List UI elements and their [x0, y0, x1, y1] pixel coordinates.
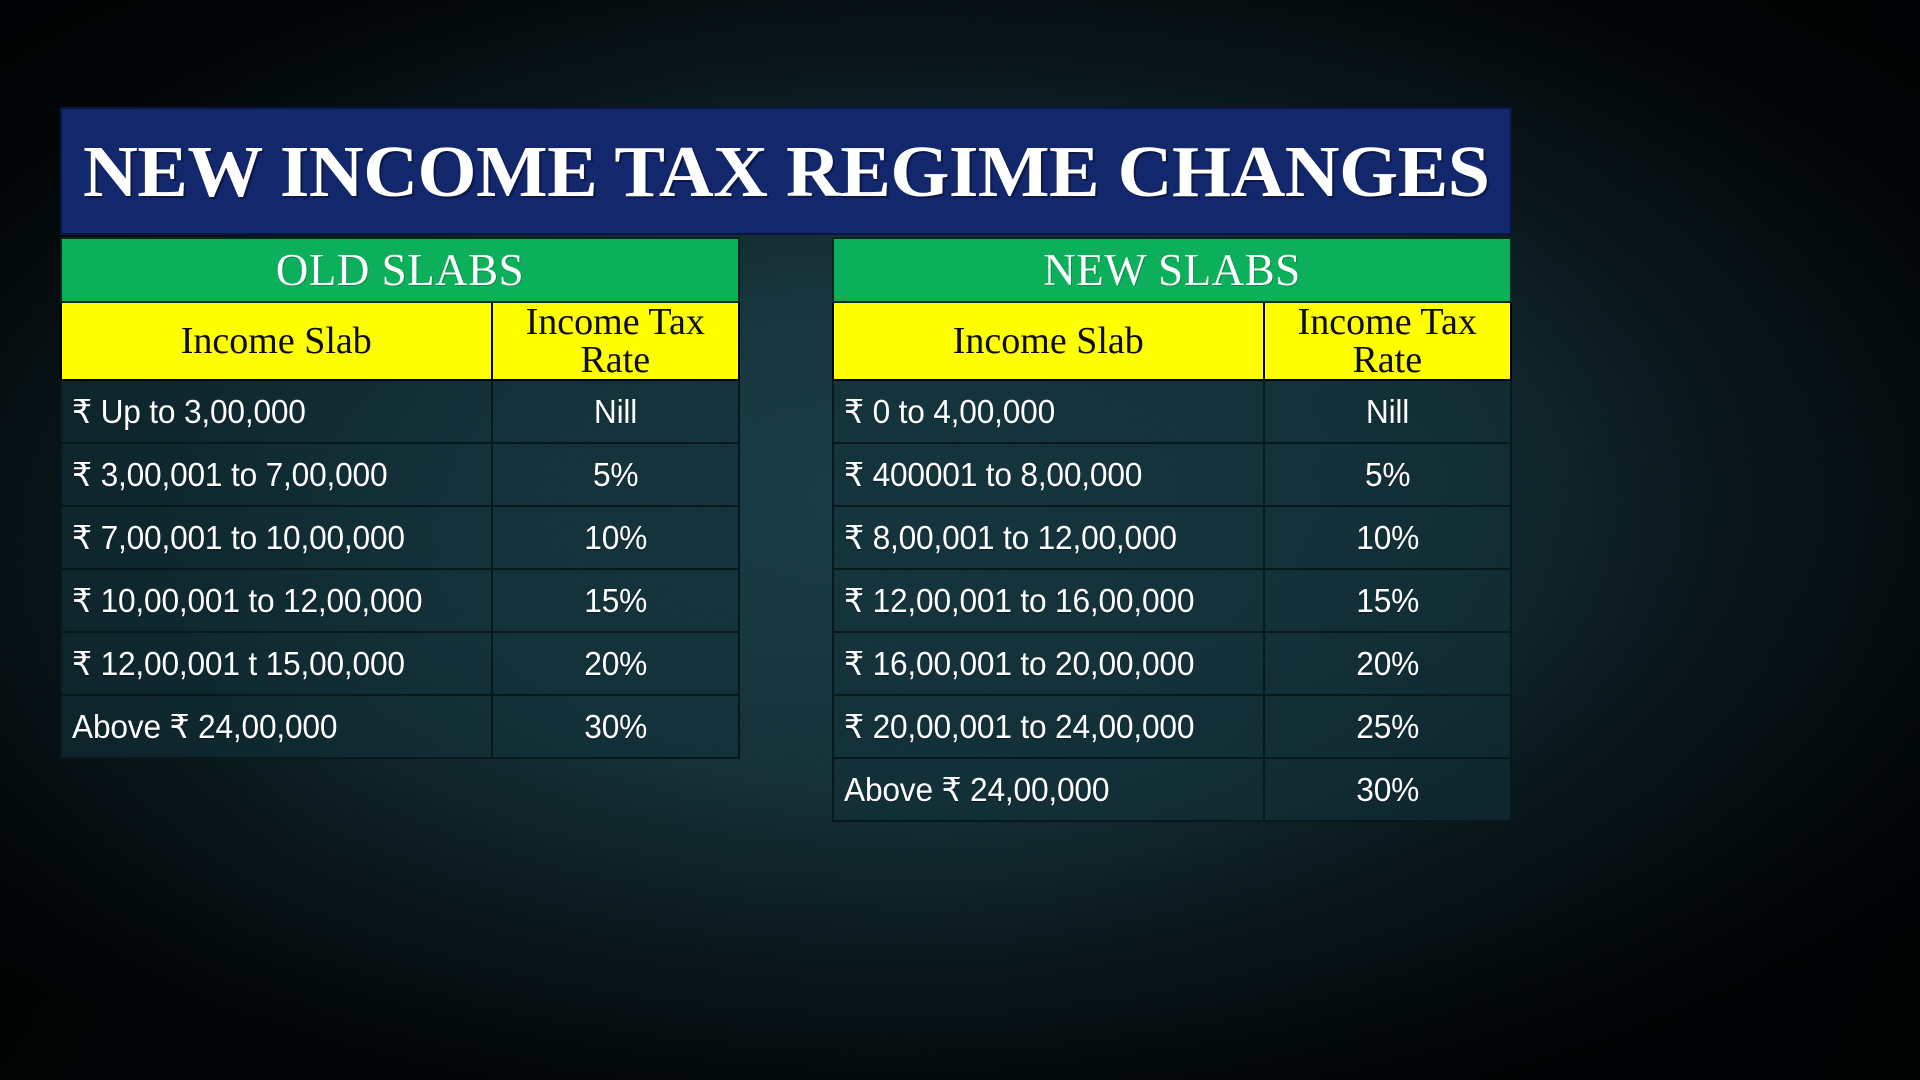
slab-value: ₹ 10,00,001 to 12,00,000 [72, 584, 422, 617]
slab-cell: ₹ 7,00,001 to 10,00,000 [61, 506, 492, 569]
rate-value: 15% [1356, 584, 1419, 617]
table-row: ₹ Up to 3,00,000 Nill [61, 380, 739, 443]
slab-cell: ₹ 12,00,001 t 15,00,000 [61, 632, 492, 695]
rate-cell: 15% [1264, 569, 1511, 632]
new-slabs-column-header-slab: Income Slab [833, 302, 1264, 380]
slab-value: ₹ 8,00,001 to 12,00,000 [844, 521, 1177, 554]
old-slabs-section-header-cell: OLD SLABS [61, 238, 739, 302]
rate-value: 30% [1356, 773, 1419, 806]
slab-value: Above ₹ 24,00,000 [844, 773, 1109, 806]
slab-value: ₹ 20,00,001 to 24,00,000 [844, 710, 1194, 743]
rate-value: 25% [1356, 710, 1419, 743]
slab-cell: ₹ 400001 to 8,00,000 [833, 443, 1264, 506]
table-row: ₹ 0 to 4,00,000 Nill [833, 380, 1511, 443]
tables-container: OLD SLABS Income Slab Income Tax Rate ₹ … [60, 237, 1512, 822]
old-slabs-header-income-tax-rate: Income Tax Rate [493, 303, 738, 379]
new-slabs-header-income-tax-rate: Income Tax Rate [1265, 303, 1510, 379]
table-row: ₹ 16,00,001 to 20,00,000 20% [833, 632, 1511, 695]
rate-cell: Nill [492, 380, 739, 443]
table-row: ₹ 8,00,001 to 12,00,000 10% [833, 506, 1511, 569]
new-slabs-section-header-row: NEW SLABS [833, 238, 1511, 302]
slab-value: ₹ 400001 to 8,00,000 [844, 458, 1142, 491]
table-row: ₹ 12,00,001 to 16,00,000 15% [833, 569, 1511, 632]
slab-cell: ₹ Up to 3,00,000 [61, 380, 492, 443]
rate-cell: 15% [492, 569, 739, 632]
slab-cell: ₹ 0 to 4,00,000 [833, 380, 1264, 443]
page-title: NEW INCOME TAX REGIME CHANGES [83, 135, 1490, 208]
rate-cell: 30% [492, 695, 739, 758]
new-slabs-section-header-cell: NEW SLABS [833, 238, 1511, 302]
rate-value: Nill [594, 395, 637, 428]
slab-cell: ₹ 10,00,001 to 12,00,000 [61, 569, 492, 632]
old-slabs-section-header-row: OLD SLABS [61, 238, 739, 302]
slab-value: ₹ Up to 3,00,000 [72, 395, 306, 428]
table-row: Above ₹ 24,00,000 30% [61, 695, 739, 758]
slab-cell: Above ₹ 24,00,000 [833, 758, 1264, 821]
slab-cell: ₹ 16,00,001 to 20,00,000 [833, 632, 1264, 695]
title-banner: NEW INCOME TAX REGIME CHANGES [60, 107, 1512, 235]
rate-cell: 25% [1264, 695, 1511, 758]
slab-value: ₹ 12,00,001 to 16,00,000 [844, 584, 1194, 617]
new-slabs-header-income-slab: Income Slab [953, 322, 1144, 360]
rate-cell: 20% [1264, 632, 1511, 695]
old-slabs-section-title: OLD SLABS [276, 248, 524, 293]
slab-value: Above ₹ 24,00,000 [72, 710, 337, 743]
rate-value: 5% [1365, 458, 1410, 491]
old-slabs-column-header-row: Income Slab Income Tax Rate [61, 302, 739, 380]
table-row: Above ₹ 24,00,000 30% [833, 758, 1511, 821]
table-row: ₹ 3,00,001 to 7,00,000 5% [61, 443, 739, 506]
old-slabs-column-header-rate: Income Tax Rate [492, 302, 739, 380]
rate-value: 30% [584, 710, 647, 743]
slab-value: ₹ 3,00,001 to 7,00,000 [72, 458, 387, 491]
new-slabs-table: NEW SLABS Income Slab Income Tax Rate ₹ … [832, 237, 1512, 822]
slab-cell: ₹ 3,00,001 to 7,00,000 [61, 443, 492, 506]
old-slabs-column-header-slab: Income Slab [61, 302, 492, 380]
tables-gap-spacer [740, 237, 832, 822]
rate-cell: 20% [492, 632, 739, 695]
slab-value: ₹ 16,00,001 to 20,00,000 [844, 647, 1194, 680]
new-slabs-column-header-rate: Income Tax Rate [1264, 302, 1511, 380]
table-row: ₹ 20,00,001 to 24,00,000 25% [833, 695, 1511, 758]
tax-slab-infographic: NEW INCOME TAX REGIME CHANGES OLD SLABS … [60, 107, 1512, 822]
new-slabs-section-title: NEW SLABS [1043, 248, 1300, 293]
slab-cell: Above ₹ 24,00,000 [61, 695, 492, 758]
slab-value: ₹ 7,00,001 to 10,00,000 [72, 521, 405, 554]
rate-value: 10% [584, 521, 647, 554]
table-row: ₹ 10,00,001 to 12,00,000 15% [61, 569, 739, 632]
rate-value: 20% [584, 647, 647, 680]
slab-cell: ₹ 20,00,001 to 24,00,000 [833, 695, 1264, 758]
new-slabs-table-block: NEW SLABS Income Slab Income Tax Rate ₹ … [832, 237, 1512, 822]
new-slabs-column-header-row: Income Slab Income Tax Rate [833, 302, 1511, 380]
slab-cell: ₹ 12,00,001 to 16,00,000 [833, 569, 1264, 632]
rate-cell: Nill [1264, 380, 1511, 443]
rate-value: 10% [1356, 521, 1419, 554]
slab-cell: ₹ 8,00,001 to 12,00,000 [833, 506, 1264, 569]
old-slabs-header-income-slab: Income Slab [181, 322, 372, 360]
rate-cell: 30% [1264, 758, 1511, 821]
table-row: ₹ 7,00,001 to 10,00,000 10% [61, 506, 739, 569]
old-slabs-table: OLD SLABS Income Slab Income Tax Rate ₹ … [60, 237, 740, 759]
rate-value: 20% [1356, 647, 1419, 680]
rate-value: 5% [593, 458, 638, 491]
rate-value: Nill [1366, 395, 1409, 428]
rate-value: 15% [584, 584, 647, 617]
rate-cell: 10% [1264, 506, 1511, 569]
table-row: ₹ 12,00,001 t 15,00,000 20% [61, 632, 739, 695]
table-row: ₹ 400001 to 8,00,000 5% [833, 443, 1511, 506]
slab-value: ₹ 0 to 4,00,000 [844, 395, 1055, 428]
rate-cell: 10% [492, 506, 739, 569]
slab-value: ₹ 12,00,001 t 15,00,000 [72, 647, 405, 680]
old-slabs-table-block: OLD SLABS Income Slab Income Tax Rate ₹ … [60, 237, 740, 822]
rate-cell: 5% [492, 443, 739, 506]
rate-cell: 5% [1264, 443, 1511, 506]
